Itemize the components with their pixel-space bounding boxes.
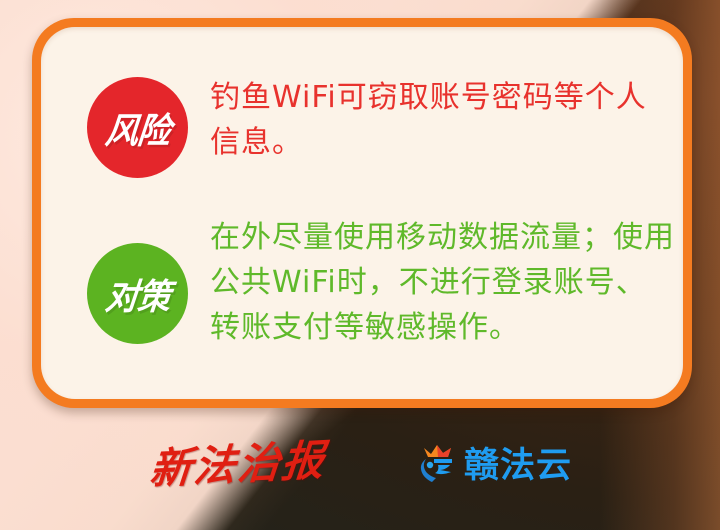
advice-text: 在外尽量使用移动数据流量；使用公共WiFi时，不进行登录账号、转账支付等敏感操作…	[210, 215, 675, 350]
advice-row: 对策 在外尽量使用移动数据流量；使用公共WiFi时，不进行登录账号、转账支付等敏…	[87, 215, 675, 350]
advice-badge-label: 对策	[103, 268, 172, 320]
tip-card: 风险 钓鱼WiFi可窃取账号密码等个人信息。 对策 在外尽量使用移动数据流量；使…	[32, 18, 692, 408]
advice-badge: 对策	[87, 243, 188, 344]
xinfazhibao-logo: 新法治报	[147, 426, 328, 497]
poster-canvas: 风险 钓鱼WiFi可窃取账号密码等个人信息。 对策 在外尽量使用移动数据流量；使…	[0, 0, 720, 530]
tip-card-inner: 风险 钓鱼WiFi可窃取账号密码等个人信息。 对策 在外尽量使用移动数据流量；使…	[41, 27, 683, 399]
risk-row: 风险 钓鱼WiFi可窃取账号密码等个人信息。	[87, 69, 675, 178]
ganfayun-mark-icon	[418, 442, 458, 484]
risk-text: 钓鱼WiFi可窃取账号密码等个人信息。	[210, 75, 675, 165]
ganfayun-logo-text: 赣法云	[464, 437, 572, 488]
footer: 新法治报 赣法云	[0, 415, 720, 530]
risk-badge-label: 风险	[103, 102, 172, 154]
ganfayun-logo: 赣法云	[418, 437, 572, 488]
risk-badge: 风险	[87, 77, 188, 178]
